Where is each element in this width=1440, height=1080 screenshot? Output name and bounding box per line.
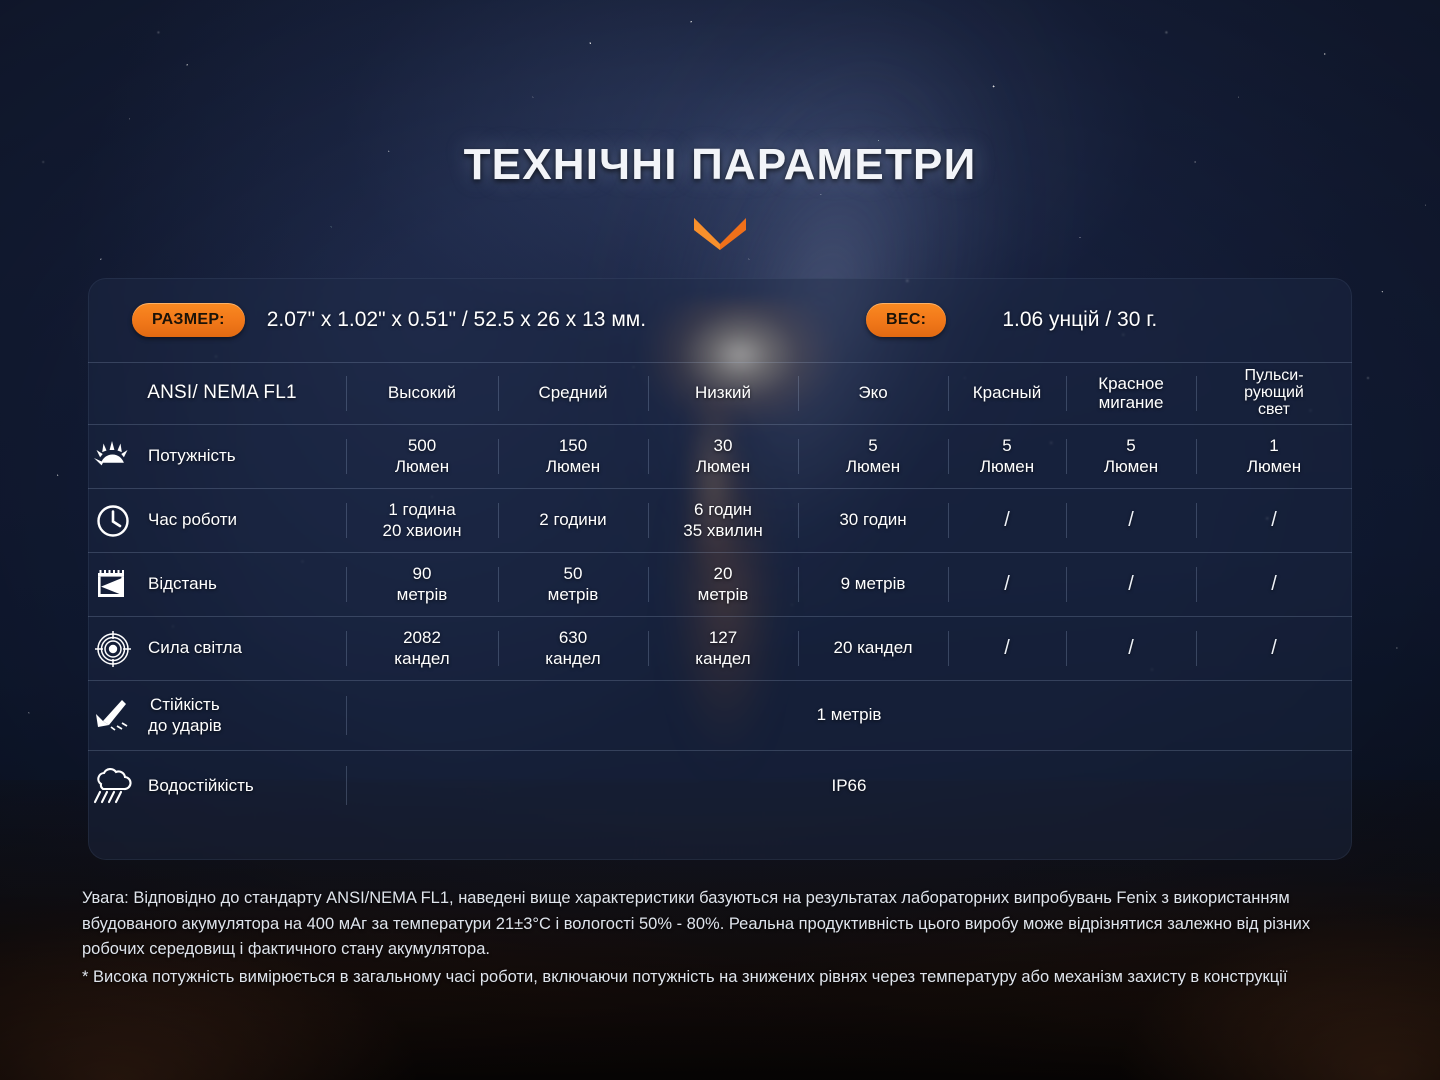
cell-output-high: 500Люмен xyxy=(346,425,498,489)
chevron-down-icon xyxy=(692,216,748,250)
size-value: 2.07" x 1.02" x 0.51" / 52.5 x 26 x 13 м… xyxy=(267,308,646,332)
column-header-medium: Средний xyxy=(498,363,648,425)
red-flash-line2: мигание xyxy=(1099,393,1164,412)
cell-intensity-high: 2082кандел xyxy=(346,617,498,681)
strobe-line2: рующий xyxy=(1244,384,1304,401)
cell-runtime-red-flash: / xyxy=(1066,489,1196,553)
cell-distance-red-flash: / xyxy=(1066,553,1196,617)
table-header-row: ANSI/ NEMA FL1 Высокий Средний Низкий Эк… xyxy=(88,363,1352,425)
size-badge: РАЗМЕР: xyxy=(132,303,245,337)
footnote-ansi-disclaimer: Увага: Відповідно до стандарту ANSI/NEMA… xyxy=(82,886,1372,963)
cell-intensity-eco: 20 кандел xyxy=(798,617,948,681)
dimension-weight-strip: РАЗМЕР: 2.07" x 1.02" x 0.51" / 52.5 x 2… xyxy=(88,278,1352,362)
row-label-distance: Відстань xyxy=(88,553,346,617)
row-label-output: Потужність xyxy=(88,425,346,489)
cell-distance-medium: 50метрів xyxy=(498,553,648,617)
column-header-high: Высокий xyxy=(346,363,498,425)
cell-output-red: 5Люмен xyxy=(948,425,1066,489)
row-label-text2: до ударів xyxy=(148,716,222,736)
cell-runtime-red: / xyxy=(948,489,1066,553)
clock-icon xyxy=(92,501,134,541)
light-intensity-target-icon xyxy=(92,629,134,669)
row-label-text: Час роботи xyxy=(148,510,237,529)
strobe-line1: Пульси- xyxy=(1244,367,1303,384)
row-label-text: Потужність xyxy=(148,446,236,465)
column-header-low: Низкий xyxy=(648,363,798,425)
cell-distance-red: / xyxy=(948,553,1066,617)
cell-runtime-eco: 30 годин xyxy=(798,489,948,553)
red-flash-line1: Красное xyxy=(1098,374,1164,393)
weight-group: ВЕС: 1.06 унцій / 30 г. xyxy=(866,303,1157,337)
table-row: Водостійкість IP66 xyxy=(88,751,1352,821)
weight-badge: ВЕС: xyxy=(866,303,946,337)
table-row: Час роботи 1 година20 хвиоин 2 години 6 … xyxy=(88,489,1352,553)
cell-distance-strobe: / xyxy=(1196,553,1352,617)
strobe-line3: свет xyxy=(1258,401,1290,418)
specifications-table: ANSI/ NEMA FL1 Высокий Средний Низкий Эк… xyxy=(88,362,1352,821)
cell-runtime-strobe: / xyxy=(1196,489,1352,553)
cell-output-low: 30Люмен xyxy=(648,425,798,489)
brightness-burst-icon xyxy=(92,437,134,477)
cell-output-red-flash: 5Люмен xyxy=(1066,425,1196,489)
water-resistance-rain-icon xyxy=(92,766,134,806)
cell-intensity-red-flash: / xyxy=(1066,617,1196,681)
spec-panel: РАЗМЕР: 2.07" x 1.02" x 0.51" / 52.5 x 2… xyxy=(88,278,1352,860)
beam-distance-ruler-icon xyxy=(92,565,134,605)
table-row: Сила світла 2082кандел 630кандел 127канд… xyxy=(88,617,1352,681)
cell-runtime-low: 6 годин35 хвилин xyxy=(648,489,798,553)
footnote-turbo-note: * Висока потужність вимірюється в загаль… xyxy=(82,965,1372,991)
cell-output-eco: 5Люмен xyxy=(798,425,948,489)
page-header: ТЕХНІЧНІ ПАРАМЕТРИ xyxy=(0,140,1440,250)
page-title: ТЕХНІЧНІ ПАРАМЕТРИ xyxy=(464,140,977,190)
row-label-water-resistance: Водостійкість xyxy=(88,751,346,821)
cell-runtime-medium: 2 години xyxy=(498,489,648,553)
spec-sheet-page: ТЕХНІЧНІ ПАРАМЕТРИ РАЗМЕР: 2.07" x 1.02"… xyxy=(0,0,1440,1080)
cell-impact-resistance-value: 1 метрів xyxy=(346,681,1352,751)
column-header-ansi: ANSI/ NEMA FL1 xyxy=(88,363,346,425)
row-label-text: Стійкість xyxy=(150,695,220,714)
impact-resistance-icon xyxy=(92,696,134,736)
column-header-red-flash: Красное мигание xyxy=(1066,363,1196,425)
cell-distance-high: 90метрів xyxy=(346,553,498,617)
cell-intensity-medium: 630кандел xyxy=(498,617,648,681)
cell-output-medium: 150Люмен xyxy=(498,425,648,489)
cell-intensity-red: / xyxy=(948,617,1066,681)
table-row: Потужність 500Люмен 150Люмен 30Люмен 5Лю… xyxy=(88,425,1352,489)
table-row: Відстань 90метрів 50метрів 20метрів 9 ме… xyxy=(88,553,1352,617)
cell-output-strobe: 1Люмен xyxy=(1196,425,1352,489)
column-header-red: Красный xyxy=(948,363,1066,425)
cell-distance-low: 20метрів xyxy=(648,553,798,617)
cell-runtime-high: 1 година20 хвиоин xyxy=(346,489,498,553)
row-label-text: Відстань xyxy=(148,574,217,593)
row-label-text: Водостійкість xyxy=(148,776,254,795)
cell-intensity-strobe: / xyxy=(1196,617,1352,681)
cell-intensity-low: 127кандел xyxy=(648,617,798,681)
cell-distance-eco: 9 метрів xyxy=(798,553,948,617)
table-row: Стійкість до ударів 1 метрів xyxy=(88,681,1352,751)
row-label-intensity: Сила світла xyxy=(88,617,346,681)
row-label-impact-resistance: Стійкість до ударів xyxy=(88,681,346,751)
row-label-text: Сила світла xyxy=(148,638,242,657)
cell-water-resistance-value: IP66 xyxy=(346,751,1352,821)
column-header-eco: Эко xyxy=(798,363,948,425)
column-header-strobe: Пульси- рующий свет xyxy=(1196,363,1352,425)
table-body: Потужність 500Люмен 150Люмен 30Люмен 5Лю… xyxy=(88,425,1352,821)
footnote-block: Увага: Відповідно до стандарту ANSI/NEMA… xyxy=(82,886,1372,990)
row-label-runtime: Час роботи xyxy=(88,489,346,553)
weight-value: 1.06 унцій / 30 г. xyxy=(1002,308,1157,332)
